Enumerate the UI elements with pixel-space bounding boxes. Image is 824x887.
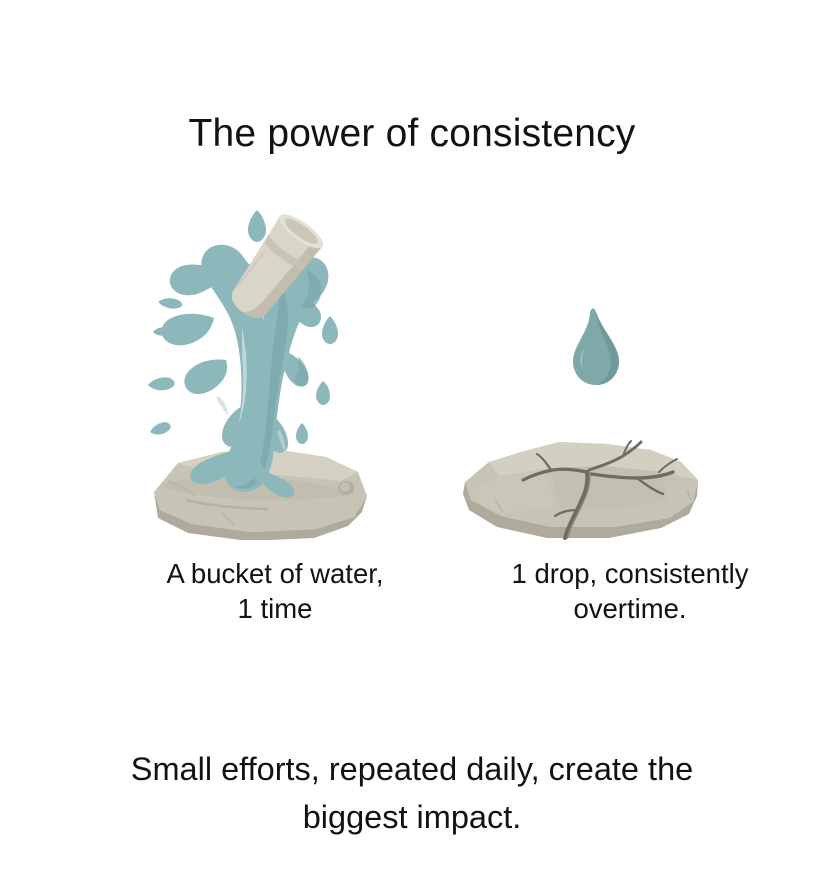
rock-cracked-icon — [463, 441, 698, 538]
page-title: The power of consistency — [0, 110, 824, 158]
drop-panel-illustration — [455, 200, 735, 540]
tagline-line-2: biggest impact. — [28, 793, 796, 841]
tagline: Small efforts, repeated daily, create th… — [28, 745, 796, 841]
caption-bucket: A bucket of water, 1 time — [112, 556, 438, 626]
bucket-panel-illustration — [130, 200, 410, 540]
water-drop-icon — [573, 308, 619, 385]
tagline-line-1: Small efforts, repeated daily, create th… — [28, 745, 796, 793]
infographic-poster: The power of consistency — [0, 0, 824, 887]
caption-drop-line-2: overtime. — [452, 591, 808, 626]
caption-drop-line-1: 1 drop, consistently — [452, 556, 808, 591]
caption-bucket-line-1: A bucket of water, — [112, 556, 438, 591]
caption-drop: 1 drop, consistently overtime. — [452, 556, 808, 626]
illustration-stage — [0, 200, 824, 550]
caption-bucket-line-2: 1 time — [112, 591, 438, 626]
